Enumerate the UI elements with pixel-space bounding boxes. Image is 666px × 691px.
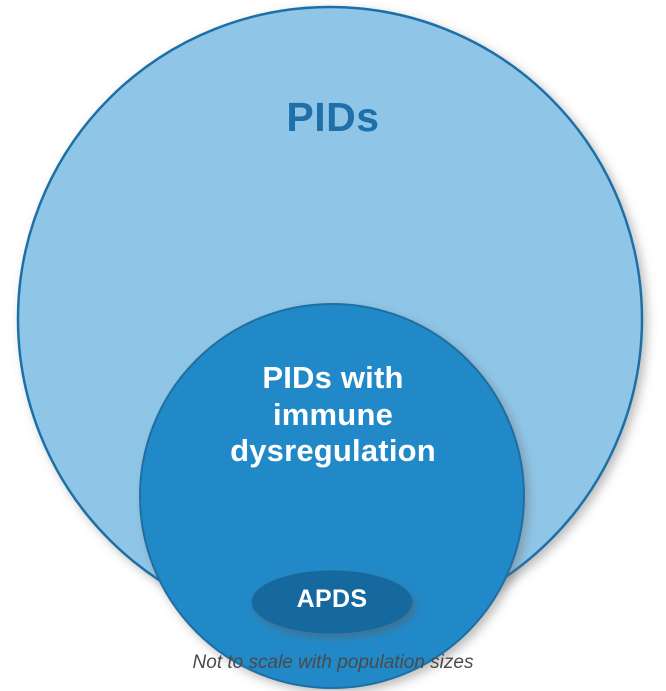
figure-caption: Not to scale with population sizes bbox=[0, 652, 666, 674]
venn-diagram: PIDs PIDs with immune dysregulation APDS… bbox=[0, 0, 666, 691]
venn-shapes bbox=[0, 0, 666, 691]
inner-ellipse-apds bbox=[252, 571, 412, 633]
